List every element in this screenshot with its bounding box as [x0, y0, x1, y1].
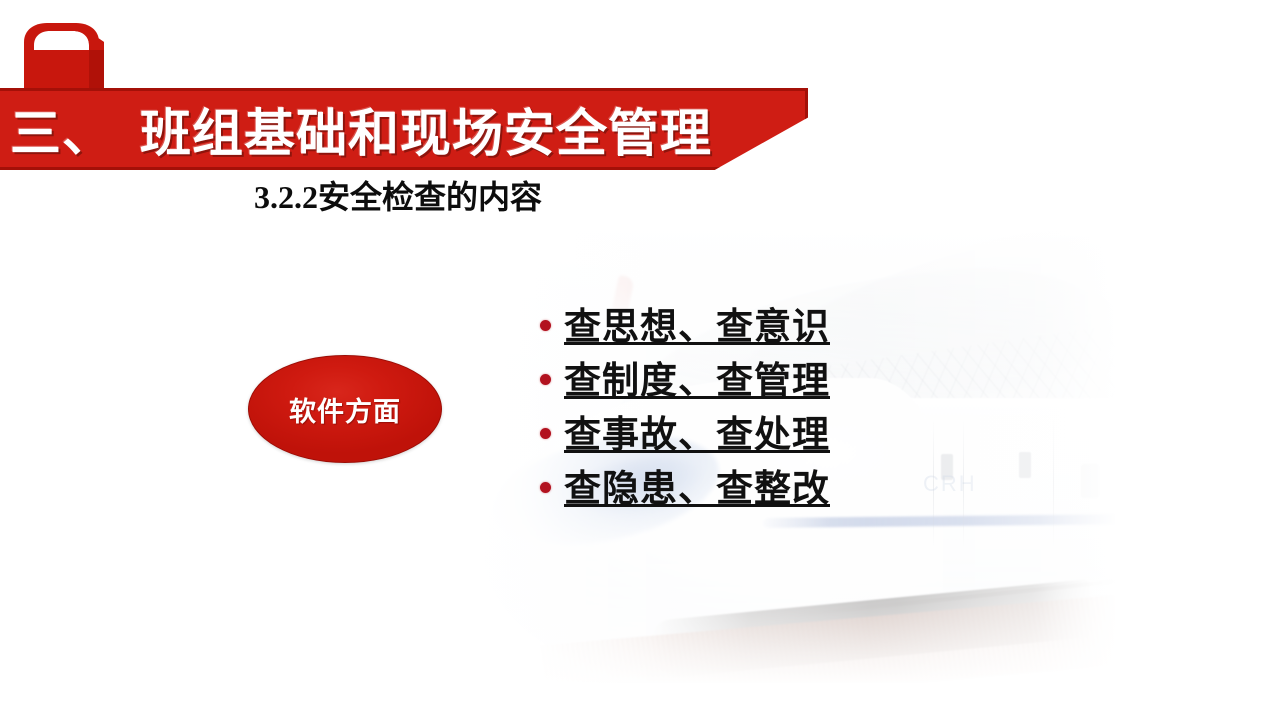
banner-text: 三、 班组基础和现场安全管理 [0, 88, 808, 170]
bullet-dot-icon [540, 482, 551, 493]
section-banner: 三、 班组基础和现场安全管理 [0, 88, 808, 170]
category-label: 软件方面 [289, 390, 401, 429]
presentation-slide: CRH 三、 班组基础和现场安全管理 3.2.2安全检查的内容 软件方面 [0, 0, 1280, 720]
list-item: 查隐患、查整改 [540, 458, 830, 512]
list-item: 查思想、查意识 [540, 296, 830, 350]
category-ellipse: 软件方面 [248, 355, 442, 463]
bookmark-tag-icon [18, 20, 124, 92]
list-item-label: 查思想、查意识 [564, 296, 830, 350]
bullet-list: 查思想、查意识 查制度、查管理 查事故、查处理 查隐患、查整改 [540, 296, 830, 512]
list-item: 查制度、查管理 [540, 350, 830, 404]
list-item-label: 查事故、查处理 [564, 404, 830, 458]
section-title: 班组基础和现场安全管理 [140, 92, 712, 166]
list-item: 查事故、查处理 [540, 404, 830, 458]
section-number: 三、 [10, 92, 114, 166]
bullet-dot-icon [540, 374, 551, 385]
slide-subtitle: 3.2.2安全检查的内容 [254, 172, 542, 218]
subtitle-number: 3.2.2 [254, 179, 318, 215]
bullet-dot-icon [540, 320, 551, 331]
bullet-dot-icon [540, 428, 551, 439]
list-item-label: 查制度、查管理 [564, 350, 830, 404]
subtitle-text: 安全检查的内容 [318, 179, 542, 215]
list-item-label: 查隐患、查整改 [564, 458, 830, 512]
